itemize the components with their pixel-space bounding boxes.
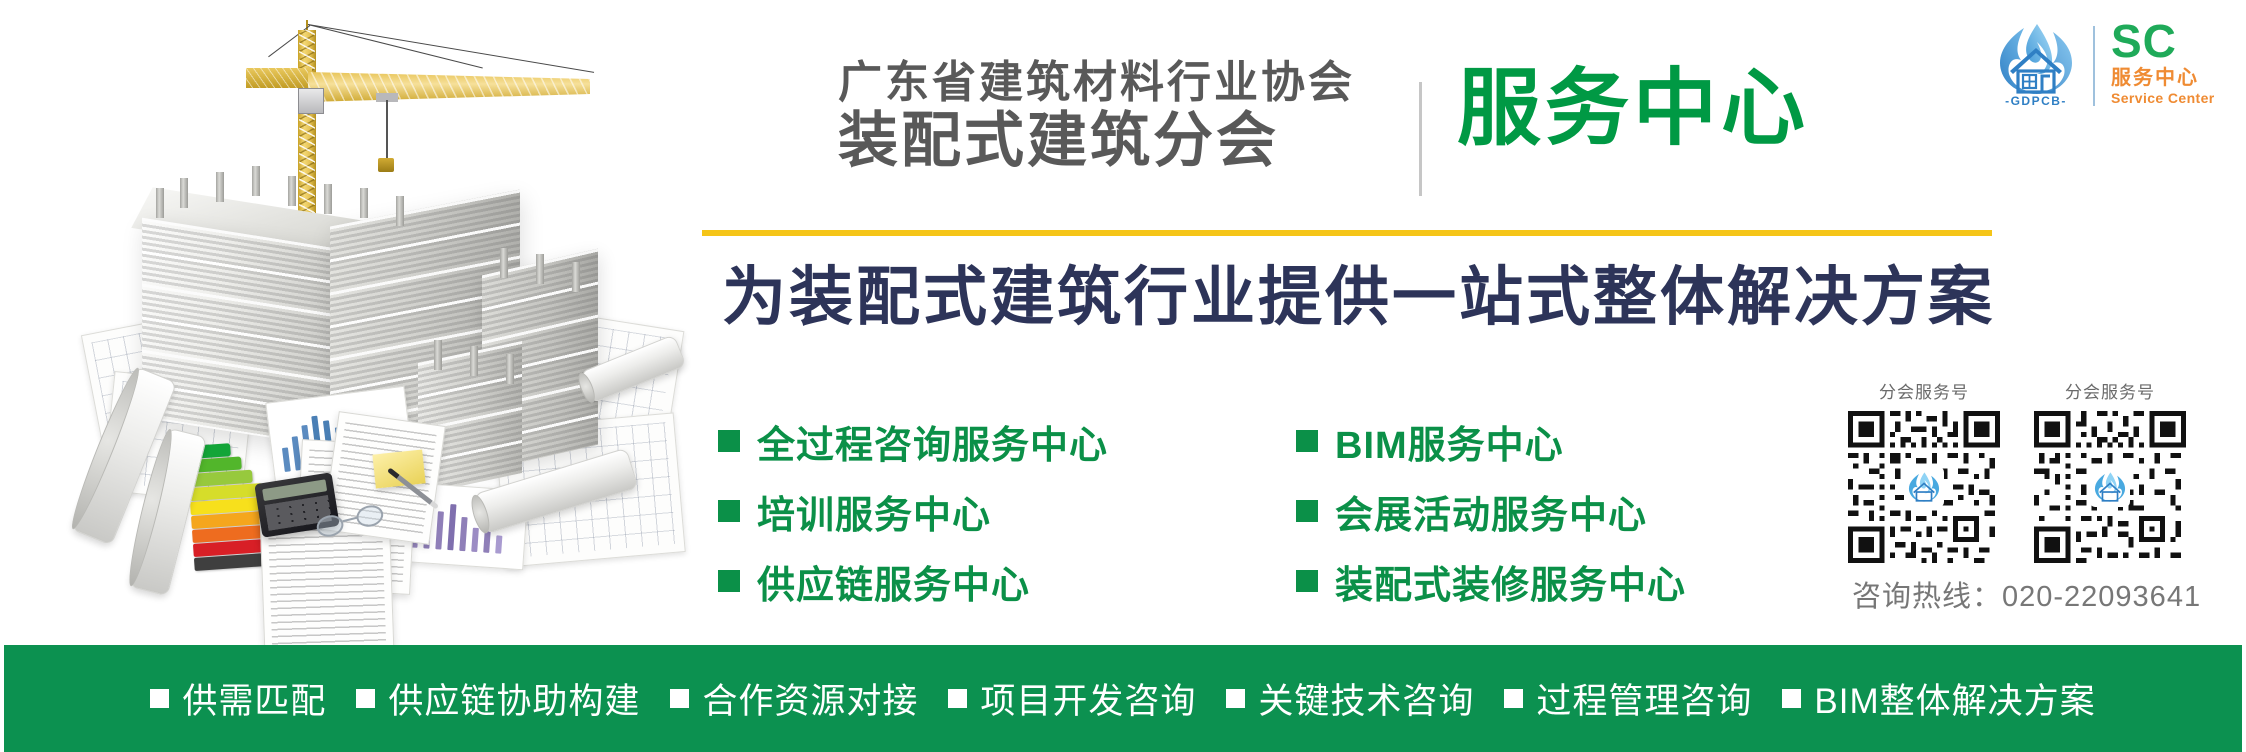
qr-code-icon[interactable]: [2034, 411, 2186, 563]
bottom-bar-item[interactable]: 供需匹配: [150, 673, 326, 724]
association-title-block: 广东省建筑材料行业协会 装配式建筑分会: [838, 58, 1355, 174]
square-bullet-icon: [718, 570, 740, 592]
gdpcb-house-flame-icon: [1906, 469, 1942, 505]
square-bullet-icon: [1782, 689, 1801, 708]
list-item[interactable]: BIM服务中心: [1296, 406, 1686, 476]
square-bullet-icon: [948, 689, 967, 708]
service-center-heading: 服务中心: [1457, 66, 1809, 150]
logo-en-text: Service Center: [2111, 90, 2215, 107]
square-bullet-icon: [670, 689, 689, 708]
list-item[interactable]: 装配式装修服务中心: [1296, 546, 1686, 616]
list-item[interactable]: 全过程咨询服务中心: [718, 406, 1108, 476]
list-item[interactable]: 会展活动服务中心: [1296, 476, 1686, 546]
bottom-bar-item[interactable]: 合作资源对接: [670, 673, 918, 724]
bottom-bar-item[interactable]: BIM整体解决方案: [1782, 673, 2095, 724]
bottom-bar-label: 过程管理咨询: [1536, 673, 1752, 724]
qr-contact-block: 分会服务号: [1848, 378, 2218, 615]
bottom-bar-label: 供应链协助构建: [388, 673, 640, 724]
qr-caption: 分会服务号: [2034, 378, 2186, 403]
bottom-bar-item[interactable]: 关键技术咨询: [1226, 673, 1474, 724]
bottom-bar-label: 合作资源对接: [702, 673, 918, 724]
service-label: BIM服务中心: [1335, 414, 1564, 469]
square-bullet-icon: [1504, 689, 1523, 708]
bottom-bar-item[interactable]: 过程管理咨询: [1504, 673, 1752, 724]
service-label: 培训服务中心: [757, 484, 991, 539]
square-bullet-icon: [1296, 430, 1318, 452]
qr-code-icon[interactable]: [1848, 411, 2000, 563]
gold-divider-rule: [702, 230, 1992, 236]
gdpcb-house-flame-icon: [2092, 469, 2128, 505]
bottom-bar-label: 供需匹配: [182, 673, 326, 724]
logo-cn-text: 服务中心: [2111, 66, 2215, 90]
vertical-divider-icon: [1419, 82, 1422, 196]
service-label: 全过程咨询服务中心: [757, 414, 1108, 469]
service-label: 装配式装修服务中心: [1335, 554, 1686, 609]
bottom-bar-label: 项目开发咨询: [980, 673, 1196, 724]
gdpcb-house-flame-icon: [1993, 22, 2079, 96]
service-label: 供应链服务中心: [757, 554, 1030, 609]
service-list-right: BIM服务中心 会展活动服务中心 装配式装修服务中心: [1296, 406, 1686, 616]
square-bullet-icon: [718, 500, 740, 522]
logo-sc-text: SC: [2111, 20, 2215, 64]
qr-cell[interactable]: 分会服务号: [2034, 378, 2186, 563]
square-bullet-icon: [1296, 500, 1318, 522]
qr-caption: 分会服务号: [1848, 378, 2000, 403]
association-name-line1: 广东省建筑材料行业协会: [838, 58, 1355, 107]
qr-cell[interactable]: 分会服务号: [1848, 378, 2000, 563]
association-name-line2: 装配式建筑分会: [838, 109, 1355, 174]
square-bullet-icon: [718, 430, 740, 452]
hero-construction-illustration: [30, 0, 690, 640]
bottom-bar-label: 关键技术咨询: [1258, 673, 1474, 724]
square-bullet-icon: [1296, 570, 1318, 592]
service-list-left: 全过程咨询服务中心 培训服务中心 供应链服务中心: [718, 406, 1108, 616]
hotline-text: 咨询热线：020-22093641: [1848, 573, 2218, 615]
square-bullet-icon: [1226, 689, 1245, 708]
promotional-banner: 广东省建筑材料行业协会 装配式建筑分会 服务中心 为装配式建筑行业提供一站式整体…: [0, 0, 2246, 752]
bottom-bar-label: BIM整体解决方案: [1814, 673, 2095, 724]
brand-logo[interactable]: -GDPCB- SC 服务中心 Service Center: [1993, 18, 2233, 114]
page-tagline: 为装配式建筑行业提供一站式整体解决方案: [722, 262, 1995, 332]
service-label: 会展活动服务中心: [1335, 484, 1647, 539]
square-bullet-icon: [356, 689, 375, 708]
list-item[interactable]: 培训服务中心: [718, 476, 1108, 546]
logo-divider-icon: [2093, 26, 2095, 106]
bottom-service-bar: 供需匹配 供应链协助构建 合作资源对接 项目开发咨询 关键技术咨询 过程管理咨询…: [4, 645, 2242, 752]
bottom-bar-item[interactable]: 项目开发咨询: [948, 673, 1196, 724]
square-bullet-icon: [150, 689, 169, 708]
list-item[interactable]: 供应链服务中心: [718, 546, 1108, 616]
logo-abbr-text: -GDPCB-: [1993, 94, 2079, 108]
bottom-bar-item[interactable]: 供应链协助构建: [356, 673, 640, 724]
sticky-note: [372, 449, 425, 488]
